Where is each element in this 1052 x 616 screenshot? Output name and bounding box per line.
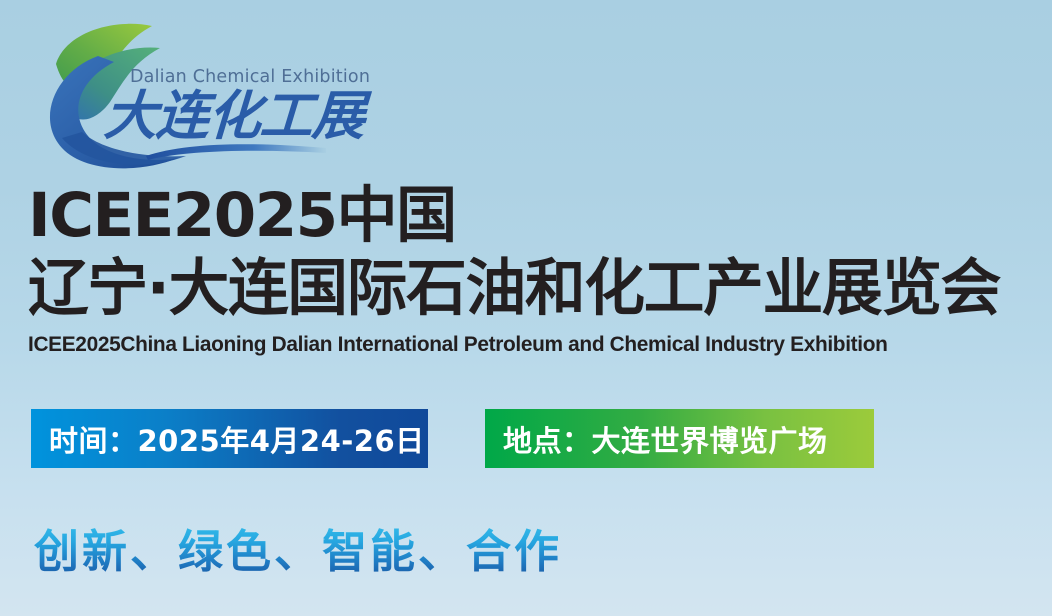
date-badge: 时间：2025年4月24-26日 bbox=[31, 409, 428, 468]
exhibition-poster: Dalian Chemical Exhibition 大连化工展 ICEE202… bbox=[0, 0, 1052, 616]
logo-chinese-name: 大连化工展 bbox=[103, 90, 366, 143]
logo-english-name: Dalian Chemical Exhibition bbox=[130, 67, 370, 87]
page-title-line2: 辽宁·大连国际石油和化工产业展览会 bbox=[28, 258, 1000, 320]
venue-badge: 地点：大连世界博览广场 bbox=[485, 409, 874, 468]
logo-block: Dalian Chemical Exhibition 大连化工展 bbox=[26, 14, 336, 174]
page-title-english: ICEE2025China Liaoning Dalian Internatio… bbox=[28, 334, 888, 355]
slogan-text: 创新、绿色、智能、合作 bbox=[34, 528, 562, 577]
page-title-line1: ICEE2025中国 bbox=[28, 185, 456, 246]
